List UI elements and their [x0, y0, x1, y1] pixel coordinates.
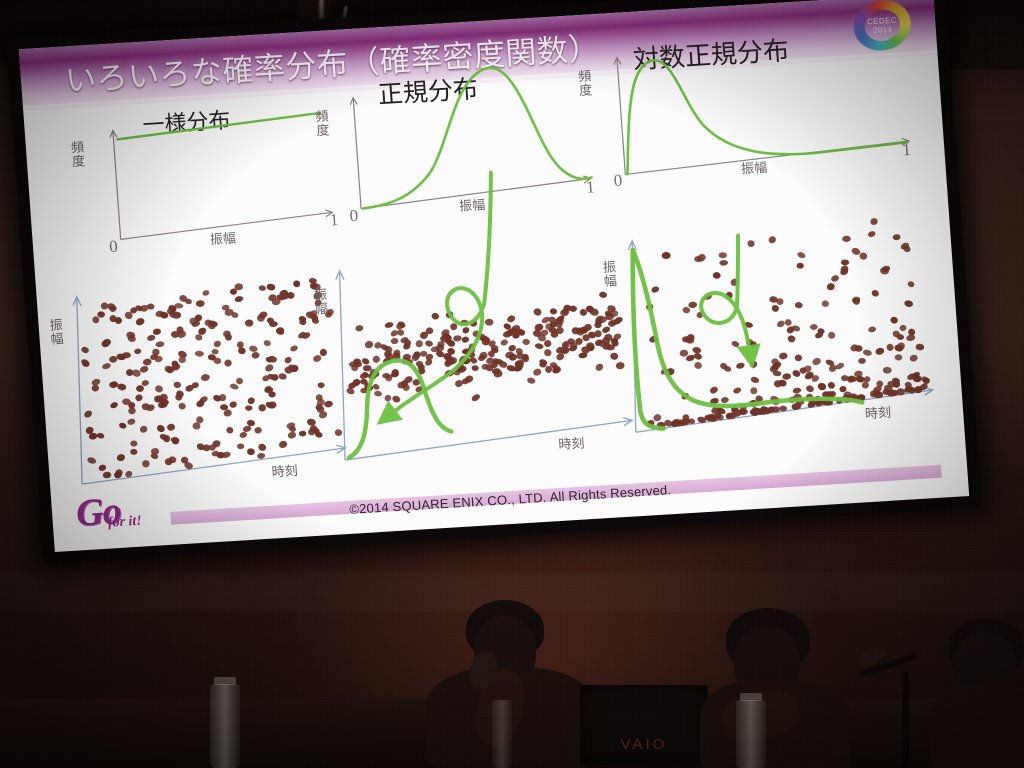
scatter-dot — [134, 393, 144, 402]
scatter-dot — [731, 340, 740, 348]
scatter-dot — [821, 300, 829, 307]
scatter-dot — [811, 357, 822, 367]
water-bottle-left — [210, 684, 240, 768]
scatter-dot — [453, 335, 462, 342]
scatter-dot — [174, 381, 182, 388]
scatter-dot — [257, 443, 267, 453]
scatter-dot — [289, 344, 298, 352]
scatter-axis-label-x-lognormal: 時刻 — [865, 407, 892, 423]
scatter-dot — [258, 404, 267, 412]
scatter-dot — [485, 319, 494, 326]
scatter-dot — [916, 344, 925, 351]
scatter-dot — [652, 413, 662, 423]
scatter-axis-label-y-lognormal: 振幅 — [602, 261, 619, 290]
scatter-dot — [830, 274, 840, 283]
scatter-dot — [83, 409, 93, 419]
bottle-cap-right — [740, 693, 762, 701]
scatter-dot — [461, 326, 470, 334]
scatter-dot — [101, 362, 111, 370]
scatter-dot — [858, 358, 866, 364]
scatter-dot — [797, 263, 804, 269]
scatter-dot — [842, 235, 851, 242]
scatter-dot — [109, 401, 118, 409]
scatter-dot — [532, 367, 542, 376]
scatter-dots-uniform — [74, 276, 346, 481]
scatter-dot — [792, 387, 801, 394]
scatter-dot — [142, 460, 150, 467]
scatter-dot — [249, 345, 258, 352]
scatter-dot — [506, 314, 516, 324]
scatter-dot — [229, 401, 238, 409]
scatter-dot — [306, 418, 316, 427]
scatter-dot — [361, 357, 370, 365]
scatter-dot — [384, 321, 394, 329]
scatter-panels-layer — [19, 0, 969, 552]
scatter-dot — [245, 405, 252, 410]
scatter-dot — [522, 339, 530, 346]
scatter-dot — [461, 336, 470, 344]
scatter-dot — [534, 343, 543, 350]
scatter-dot — [390, 337, 399, 344]
scatter-dot — [826, 282, 836, 291]
scatter-dot — [904, 300, 914, 308]
scatter-dot — [299, 431, 307, 437]
scatter-dot — [735, 362, 745, 370]
scatter-dot — [166, 423, 175, 431]
scatter-dot — [862, 349, 872, 357]
scatter-dot — [907, 328, 916, 337]
scatter-dot — [118, 422, 127, 429]
scatter-dot — [720, 396, 729, 403]
scatter-dot — [688, 301, 698, 308]
scatter-dot — [414, 339, 424, 349]
scatter-dot — [136, 385, 145, 393]
scatter-dot — [155, 341, 165, 348]
scatter-dot — [694, 361, 703, 369]
scatter-dot — [787, 335, 796, 344]
scatter-dot — [693, 352, 703, 361]
scatter-dot — [278, 440, 288, 449]
scatter-dot — [709, 385, 720, 395]
go-for-it-logo: Go for it! — [75, 489, 170, 537]
scatter-dot — [263, 340, 271, 347]
scatter-dot — [907, 280, 915, 288]
scatter-dot — [750, 376, 760, 384]
scatter-dot — [109, 355, 118, 363]
scatter-dot — [883, 367, 892, 374]
scatter-dot — [226, 426, 234, 434]
scatter-dot — [96, 432, 105, 439]
scatter-dot — [610, 352, 618, 360]
scatter-dot — [771, 304, 780, 313]
scatter-dot — [506, 364, 516, 372]
scatter-dot — [234, 295, 244, 303]
scatter-dot — [178, 402, 186, 410]
scatter-dot — [98, 464, 107, 472]
scatter-dot — [895, 354, 903, 360]
scatter-dot — [239, 431, 248, 439]
scatter-dot — [334, 429, 342, 436]
scatter-dot — [152, 328, 161, 336]
scatter-dot — [544, 349, 552, 357]
scatter-dot — [601, 325, 611, 334]
scatter-dot — [130, 440, 137, 446]
scatter-dot — [213, 340, 222, 349]
scatter-dot — [841, 259, 849, 265]
scatter-dot — [839, 385, 847, 392]
go-logo-sub: for it! — [107, 514, 142, 532]
scatter-dot — [550, 308, 558, 315]
scatter-dot — [767, 235, 777, 245]
scatter-dot — [134, 348, 142, 355]
scatter-dot — [141, 379, 150, 387]
scatter-dot — [472, 365, 479, 371]
scatter-dot — [431, 312, 440, 320]
scatter-dot — [615, 362, 625, 370]
scatter-dot — [196, 300, 205, 307]
scatter-dot — [383, 394, 392, 403]
scatter-dot — [220, 404, 228, 411]
scatter-dot — [235, 377, 244, 386]
scatter-dot — [195, 350, 204, 357]
bottle-cap-left — [214, 677, 236, 685]
water-bottle-center — [492, 700, 512, 768]
scatter-dot — [97, 311, 105, 318]
water-bottle-right — [736, 700, 766, 768]
photo-scene: いろいろな確率分布（確率密度関数） CEDEC 2014 一様分布 正規分布 対… — [0, 0, 1024, 768]
projection-screen: いろいろな確率分布（確率密度関数） CEDEC 2014 一様分布 正規分布 対… — [6, 0, 982, 565]
scatter-dot — [211, 349, 218, 355]
scatter-dot — [795, 355, 802, 362]
scatter-dot — [372, 383, 380, 391]
scatter-dot — [391, 395, 401, 404]
scatter-dot — [508, 344, 517, 352]
scatter-dot — [750, 387, 758, 395]
laptop-brand-label: VAIO — [580, 736, 708, 753]
scatter-dot — [650, 285, 660, 293]
scatter-dot — [805, 384, 815, 393]
scatter-dot — [863, 375, 871, 383]
scatter-axis-label-x-uniform: 時刻 — [271, 465, 298, 481]
scatter-dot — [679, 349, 688, 357]
scatter-dot — [594, 362, 604, 372]
scatter-dot — [909, 354, 919, 363]
scatter-dot — [776, 319, 786, 328]
scatter-dot — [867, 230, 876, 238]
scatter-dot — [177, 350, 188, 359]
scatter-dots-lognormal — [631, 215, 932, 430]
scatter-dot — [899, 324, 907, 332]
scatter-dot — [889, 316, 898, 325]
scatter-dot — [200, 373, 210, 381]
panelist-middle — [700, 608, 860, 768]
scatter-dot — [102, 471, 111, 478]
scatter-axis-label-y-uniform: 振幅 — [48, 319, 65, 348]
scatter-dot — [146, 334, 156, 342]
scatter-dot — [540, 316, 550, 325]
scatter-dot — [795, 302, 803, 309]
scatter-dot — [254, 426, 263, 434]
scatter-dot — [470, 393, 481, 403]
scatter-dot — [127, 418, 136, 426]
scatter-dot — [785, 319, 792, 326]
scatter-dot — [892, 234, 900, 240]
scatter-dot — [859, 252, 868, 260]
scatter-dot — [135, 317, 146, 327]
scatter-dot — [862, 382, 870, 389]
scatter-dot — [396, 329, 404, 336]
scatter-dot — [117, 383, 127, 391]
scatter-dot — [318, 382, 325, 388]
scatter-dot — [229, 383, 239, 391]
laptop: VAIO — [580, 685, 708, 765]
scatter-dot — [662, 252, 671, 259]
scatter-dot — [599, 291, 607, 298]
scatter-dot — [533, 307, 543, 316]
scatter-dot — [713, 272, 721, 279]
scatter-dot — [312, 354, 322, 363]
scatter-axis-label-x-normal: 時刻 — [558, 437, 585, 453]
scatter-dot — [202, 289, 210, 296]
scatter-dot — [827, 331, 835, 339]
scatter-dot — [719, 260, 728, 266]
scatter-dot — [139, 365, 149, 373]
panelist-right — [938, 618, 1024, 768]
scatter-dot — [278, 373, 287, 381]
scatter-dot — [372, 355, 380, 363]
scatter-dot — [851, 247, 862, 257]
scatter-dot — [355, 325, 364, 332]
scatter-dot — [871, 289, 880, 298]
scatter-dot — [258, 285, 266, 291]
scatter-dot — [142, 358, 152, 366]
scatter-dot — [692, 346, 702, 353]
scatter-dot — [796, 251, 806, 259]
scatter-dot — [500, 339, 509, 347]
scatter-dot — [154, 385, 163, 394]
microphone-stand — [902, 672, 909, 768]
scatter-dot — [732, 386, 742, 394]
scatter-dot — [257, 452, 266, 459]
scatter-dot — [293, 280, 301, 287]
scatter-dot — [130, 449, 137, 455]
scatter-dot — [91, 384, 99, 392]
scatter-dot — [264, 363, 275, 373]
scatter-dot — [363, 365, 372, 371]
scatter-dot — [374, 390, 382, 396]
scatter-dot — [782, 373, 792, 381]
scatter-dot — [749, 360, 759, 370]
panelist-right-body — [930, 684, 1024, 768]
slide-content: いろいろな確率分布（確率密度関数） CEDEC 2014 一様分布 正規分布 対… — [19, 0, 969, 552]
scatter-dot — [247, 448, 255, 456]
scatter-dot — [251, 351, 260, 359]
scatter-dot — [223, 358, 233, 367]
scatter-dot — [283, 356, 292, 365]
scatter-dot — [139, 425, 149, 434]
scatter-dot — [319, 348, 328, 357]
scatter-dot — [869, 217, 878, 226]
scatter-dot — [810, 324, 818, 330]
scatter-axis-label-y-normal: 振幅 — [313, 289, 330, 318]
scatter-dot — [827, 381, 836, 390]
scatter-dot — [719, 252, 727, 258]
scatter-dot — [287, 431, 297, 440]
scatter-dot — [778, 352, 788, 361]
scatter-dot — [364, 340, 374, 349]
scatter-dot — [324, 400, 334, 408]
scatter-dot — [247, 420, 256, 427]
scatter-dot — [245, 319, 254, 327]
scatter-dot — [868, 326, 877, 333]
scatter-dot — [116, 453, 126, 462]
scatter-dot — [81, 346, 90, 354]
scatter-dot — [87, 456, 97, 464]
scatter-dot — [682, 307, 690, 314]
scatter-dot — [875, 347, 885, 356]
scatter-dot — [425, 340, 434, 348]
scatter-dot — [238, 347, 246, 355]
scatter-dot — [886, 343, 895, 352]
scatter-dot — [527, 377, 536, 385]
scatter-dot — [246, 396, 256, 405]
scatter-dot — [266, 283, 276, 291]
scatter-dot — [237, 443, 244, 449]
scatter-dot — [747, 240, 755, 248]
scatter-dot — [156, 424, 166, 434]
